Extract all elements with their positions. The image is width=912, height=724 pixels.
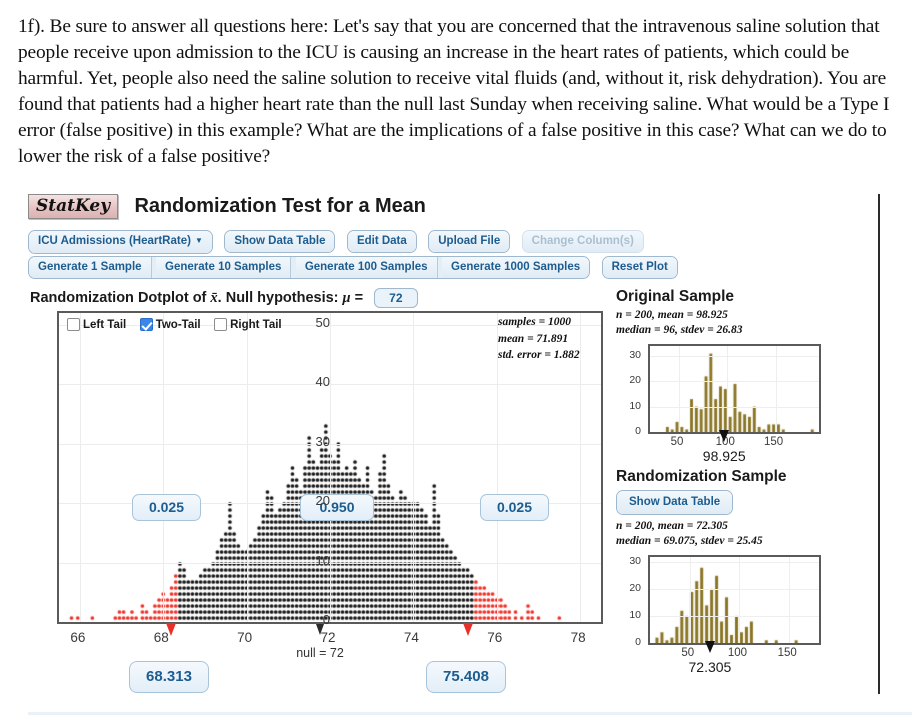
samples-stat: samples = 1000: [498, 314, 580, 331]
randomization-sample-stats-line2: median = 69.075, stdev = 25.45: [616, 534, 912, 549]
mini-y-tick-label: 10: [621, 609, 641, 621]
upload-file-button[interactable]: Upload File: [429, 231, 509, 252]
mini-mean-label: 72.305: [665, 659, 755, 675]
generate-button-group: Generate 1 Sample Generate 10 Samples Ge…: [28, 256, 590, 279]
original-sample-heading: Original Sample: [616, 288, 912, 306]
two-tail-label: Two-Tail: [156, 319, 201, 331]
randomization-sample-heading: Randomization Sample: [616, 468, 912, 486]
mini-x-tick-label: 150: [772, 647, 802, 659]
statkey-logo: StatKey: [28, 194, 118, 219]
x-tick-label: 78: [558, 630, 598, 645]
dotplot-title: Randomization Dotplot of x̄. Null hypoth…: [30, 288, 418, 308]
right-cutoff-value[interactable]: 75.408: [426, 661, 506, 693]
randomization-sample-stats: n = 200, mean = 72.305 median = 69.075, …: [616, 519, 912, 549]
mini-y-tick-label: 30: [621, 349, 641, 361]
left-tail-label: Left Tail: [83, 319, 126, 331]
mini-y-gridline: [650, 589, 819, 590]
change-columns-button: Change Column(s): [523, 231, 643, 252]
generate-100-samples-button[interactable]: Generate 100 Samples: [296, 257, 438, 278]
equals-symbol: =: [351, 290, 368, 306]
generate-10-samples-button[interactable]: Generate 10 Samples: [156, 257, 291, 278]
two-tail-checkbox[interactable]: [140, 318, 153, 331]
mini-x-tick-label: 50: [662, 436, 692, 448]
original-sample-stats-line2: median = 96, stdev = 26.83: [616, 323, 912, 338]
x-gridline: [247, 313, 248, 622]
summary-statistics: samples = 1000 mean = 71.891 std. error …: [498, 314, 580, 364]
mini-x-tick-label: 100: [722, 647, 752, 659]
randomization-histogram-axis: 5010015072.305: [616, 645, 912, 677]
app-titlebar: StatKey Randomization Test for a Mean: [28, 194, 426, 224]
dataset-button-group: ICU Admissions (HeartRate)▼: [28, 230, 213, 254]
page-title: Randomization Test for a Mean: [135, 195, 426, 218]
mini-y-tick-label: 30: [621, 555, 641, 567]
left-tail-proportion[interactable]: 0.025: [132, 494, 201, 521]
question-paragraph: 1f). Be sure to answer all questions her…: [18, 14, 894, 171]
y-gridline: [59, 384, 601, 385]
y-tick-label: 50: [304, 315, 330, 330]
right-tail-label: Right Tail: [230, 319, 282, 331]
y-gridline: [59, 563, 601, 564]
mini-x-gridline: [690, 557, 691, 643]
upload-file-group: Upload File: [428, 230, 510, 253]
reset-plot-button[interactable]: Reset Plot: [603, 257, 677, 278]
std-error-stat: std. error = 1.882: [498, 347, 580, 364]
mean-stat: mean = 71.891: [498, 331, 580, 348]
right-tail-checkbox[interactable]: [214, 318, 227, 331]
x-tick-label: 66: [58, 630, 98, 645]
x-gridline: [580, 313, 581, 622]
mini-y-gridline: [650, 562, 819, 563]
y-gridline: [59, 444, 601, 445]
generate-1-sample-button[interactable]: Generate 1 Sample: [29, 257, 152, 278]
dotplot-title-suffix: . Null hypothesis:: [218, 290, 343, 306]
mini-mean-marker-icon: [719, 430, 729, 442]
mini-y-tick-label: 20: [621, 374, 641, 386]
mini-y-tick-label: 20: [621, 582, 641, 594]
mini-y-gridline: [650, 356, 819, 357]
original-histogram-axis: 5010015098.925: [616, 434, 912, 466]
x-gridline: [80, 313, 81, 622]
mini-y-gridline: [650, 616, 819, 617]
toolbar-row-data: ICU Admissions (HeartRate)▼ Show Data Ta…: [28, 230, 651, 254]
x-tick-label: 70: [225, 630, 265, 645]
generate-1000-samples-button[interactable]: Generate 1000 Samples: [442, 257, 589, 278]
mini-x-gridline: [739, 557, 740, 643]
left-tail-checkbox[interactable]: [67, 318, 80, 331]
mini-x-tick-label: 150: [759, 436, 789, 448]
mini-y-tick-label: 10: [621, 400, 641, 412]
y-tick-label: 40: [304, 374, 330, 389]
randomization-histogram-canvas: [650, 557, 819, 643]
right-panel: Original Sample n = 200, mean = 98.925 m…: [616, 288, 912, 677]
xbar-symbol: x̄: [210, 290, 217, 306]
randomization-button-row: Show Data Table: [616, 490, 912, 515]
x-tick-label: 72: [308, 630, 348, 645]
bottom-divider: [28, 712, 912, 715]
right-cutoff-marker-icon: [463, 623, 473, 636]
randomization-sample-stats-line1: n = 200, mean = 72.305: [616, 519, 912, 534]
x-tick-label: 68: [141, 630, 181, 645]
original-sample-stats-line1: n = 200, mean = 98.925: [616, 308, 912, 323]
right-edge-divider: [878, 194, 880, 694]
x-tick-label: 76: [475, 630, 515, 645]
dataset-selector-label: ICU Admissions (HeartRate): [38, 235, 191, 247]
edit-data-group: Edit Data: [347, 230, 417, 253]
mini-mean-label: 98.925: [679, 448, 769, 464]
y-tick-label: 0: [304, 612, 330, 627]
dataset-selector-button[interactable]: ICU Admissions (HeartRate)▼: [29, 231, 212, 253]
left-cutoff-value[interactable]: 68.313: [129, 661, 209, 693]
mini-x-gridline: [776, 346, 777, 432]
x-gridline: [413, 313, 414, 622]
y-tick-label: 30: [304, 434, 330, 449]
mini-x-gridline: [679, 346, 680, 432]
reset-plot-group: Reset Plot: [602, 256, 678, 279]
edit-data-button[interactable]: Edit Data: [348, 231, 416, 252]
y-tick-label: 20: [304, 493, 330, 508]
mini-x-tick-label: 50: [673, 647, 703, 659]
toolbar-row-generate: Generate 1 Sample Generate 10 Samples Ge…: [28, 256, 685, 279]
right-tail-proportion[interactable]: 0.025: [480, 494, 549, 521]
change-columns-group: Change Column(s): [522, 230, 644, 253]
original-histogram-canvas: [650, 346, 819, 432]
randomization-show-data-table-button[interactable]: Show Data Table: [617, 491, 732, 514]
mini-mean-marker-icon: [705, 641, 715, 653]
null-marker-label: null = 72: [285, 646, 355, 660]
x-gridline: [330, 313, 331, 622]
mini-y-gridline: [650, 407, 819, 408]
statkey-app: StatKey Randomization Test for a Mean IC…: [28, 194, 912, 710]
mini-y-gridline: [650, 381, 819, 382]
original-sample-histogram: 0102030: [648, 344, 821, 434]
mu-symbol: μ: [343, 290, 351, 306]
show-data-table-group: Show Data Table: [224, 230, 335, 253]
null-hypothesis-input[interactable]: 72: [374, 288, 417, 308]
x-gridline: [163, 313, 164, 622]
x-tick-label: 74: [391, 630, 431, 645]
tail-checkbox-row: Left Tail Two-Tail Right Tail: [67, 316, 291, 334]
show-data-table-button[interactable]: Show Data Table: [225, 231, 334, 252]
mini-x-gridline: [727, 346, 728, 432]
chevron-down-icon: ▼: [195, 236, 203, 245]
y-tick-label: 10: [304, 553, 330, 568]
dotplot-title-prefix: Randomization Dotplot of: [30, 290, 210, 306]
mini-x-gridline: [789, 557, 790, 643]
randomization-sample-histogram: 0102030: [648, 555, 821, 645]
original-sample-stats: n = 200, mean = 98.925 median = 96, stde…: [616, 308, 912, 338]
